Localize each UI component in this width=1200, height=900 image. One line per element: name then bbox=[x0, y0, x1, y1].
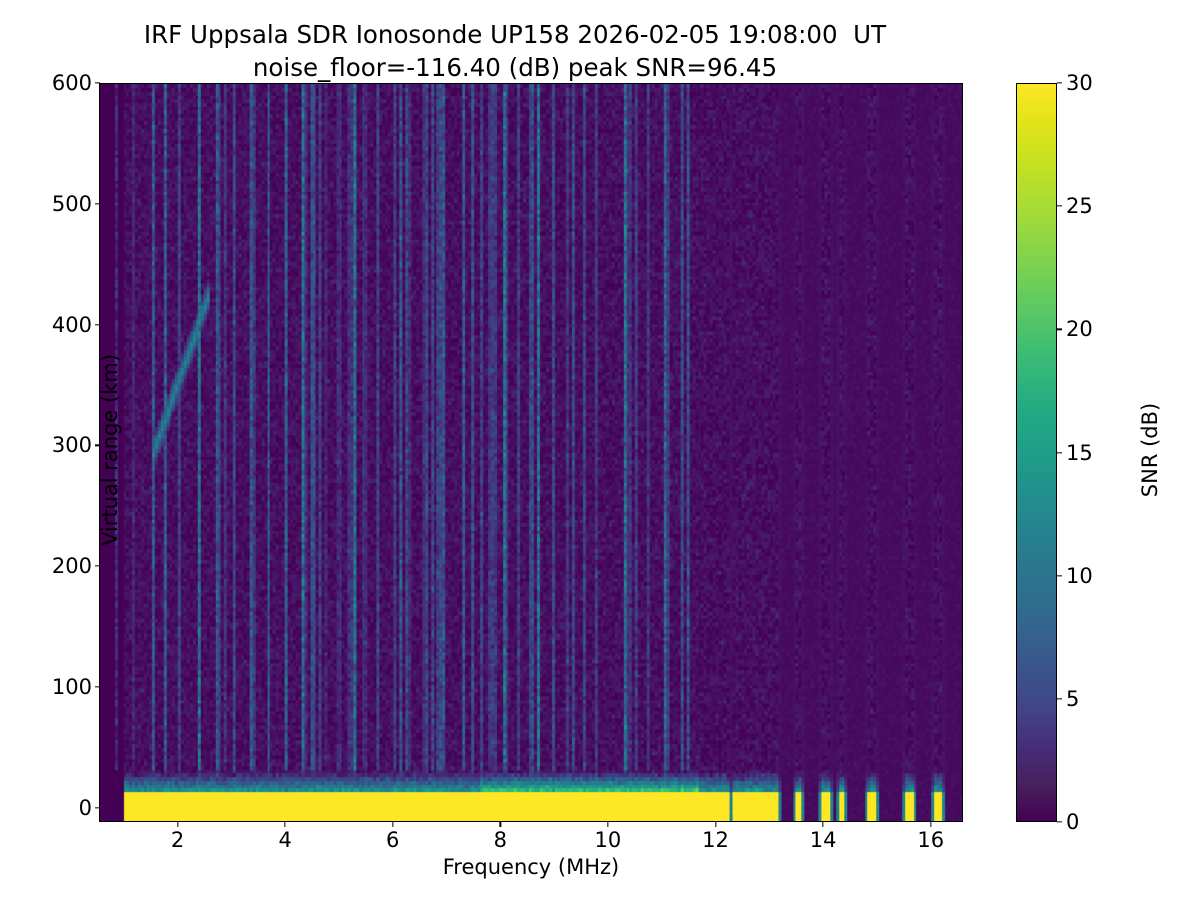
x-tick-label: 6 bbox=[386, 828, 399, 852]
chart-title: IRF Uppsala SDR Ionosonde UP158 2026-02-… bbox=[0, 18, 1030, 84]
y-tick-mark bbox=[95, 445, 100, 446]
y-tick-label: 300 bbox=[52, 433, 92, 457]
ionogram-plot-area bbox=[99, 83, 963, 822]
y-tick-mark bbox=[95, 82, 100, 83]
title-line-secondary: noise_floor=-116.40 (dB) peak SNR=96.45 bbox=[0, 51, 1030, 84]
colorbar-tick-label: 10 bbox=[1066, 564, 1093, 588]
colorbar-tick-label: 5 bbox=[1066, 687, 1079, 711]
colorbar-tick-mark bbox=[1057, 329, 1062, 330]
y-tick-label: 600 bbox=[52, 71, 92, 95]
colorbar-tick-mark bbox=[1057, 452, 1062, 453]
x-axis-label: Frequency (MHz) bbox=[99, 855, 963, 879]
colorbar-tick-label: 30 bbox=[1066, 71, 1093, 95]
colorbar-tick-mark bbox=[1057, 82, 1062, 83]
colorbar-tick-label: 0 bbox=[1066, 810, 1079, 834]
y-tick-mark bbox=[95, 324, 100, 325]
colorbar-tick-label: 20 bbox=[1066, 317, 1093, 341]
y-tick-label: 400 bbox=[52, 313, 92, 337]
x-tick-label: 14 bbox=[810, 828, 837, 852]
x-tick-label: 12 bbox=[702, 828, 729, 852]
x-tick-label: 4 bbox=[278, 828, 291, 852]
y-tick-label: 200 bbox=[52, 554, 92, 578]
y-tick-mark bbox=[95, 686, 100, 687]
x-tick-mark bbox=[177, 822, 178, 827]
x-tick-label: 16 bbox=[917, 828, 944, 852]
x-tick-label: 8 bbox=[494, 828, 507, 852]
x-tick-mark bbox=[607, 822, 608, 827]
colorbar-gradient bbox=[1017, 84, 1056, 821]
y-tick-mark bbox=[95, 807, 100, 808]
x-tick-mark bbox=[715, 822, 716, 827]
colorbar-tick-label: 15 bbox=[1066, 441, 1093, 465]
x-tick-mark bbox=[392, 822, 393, 827]
colorbar-tick-mark bbox=[1057, 821, 1062, 822]
y-axis-label: Virtual range (km) bbox=[98, 354, 122, 546]
colorbar bbox=[1016, 83, 1057, 822]
ionogram-heatmap bbox=[100, 84, 962, 821]
colorbar-tick-mark bbox=[1057, 575, 1062, 576]
x-tick-label: 10 bbox=[595, 828, 622, 852]
y-tick-label: 0 bbox=[79, 796, 92, 820]
y-tick-mark bbox=[95, 203, 100, 204]
x-tick-label: 2 bbox=[171, 828, 184, 852]
colorbar-tick-mark bbox=[1057, 698, 1062, 699]
y-tick-label: 100 bbox=[52, 675, 92, 699]
x-tick-mark bbox=[500, 822, 501, 827]
colorbar-label: SNR (dB) bbox=[1138, 403, 1162, 497]
colorbar-tick-mark bbox=[1057, 206, 1062, 207]
x-tick-mark bbox=[284, 822, 285, 827]
y-tick-mark bbox=[95, 565, 100, 566]
title-line-primary: IRF Uppsala SDR Ionosonde UP158 2026-02-… bbox=[0, 18, 1030, 51]
colorbar-tick-label: 25 bbox=[1066, 194, 1093, 218]
x-tick-mark bbox=[822, 822, 823, 827]
y-tick-label: 500 bbox=[52, 192, 92, 216]
x-tick-mark bbox=[930, 822, 931, 827]
